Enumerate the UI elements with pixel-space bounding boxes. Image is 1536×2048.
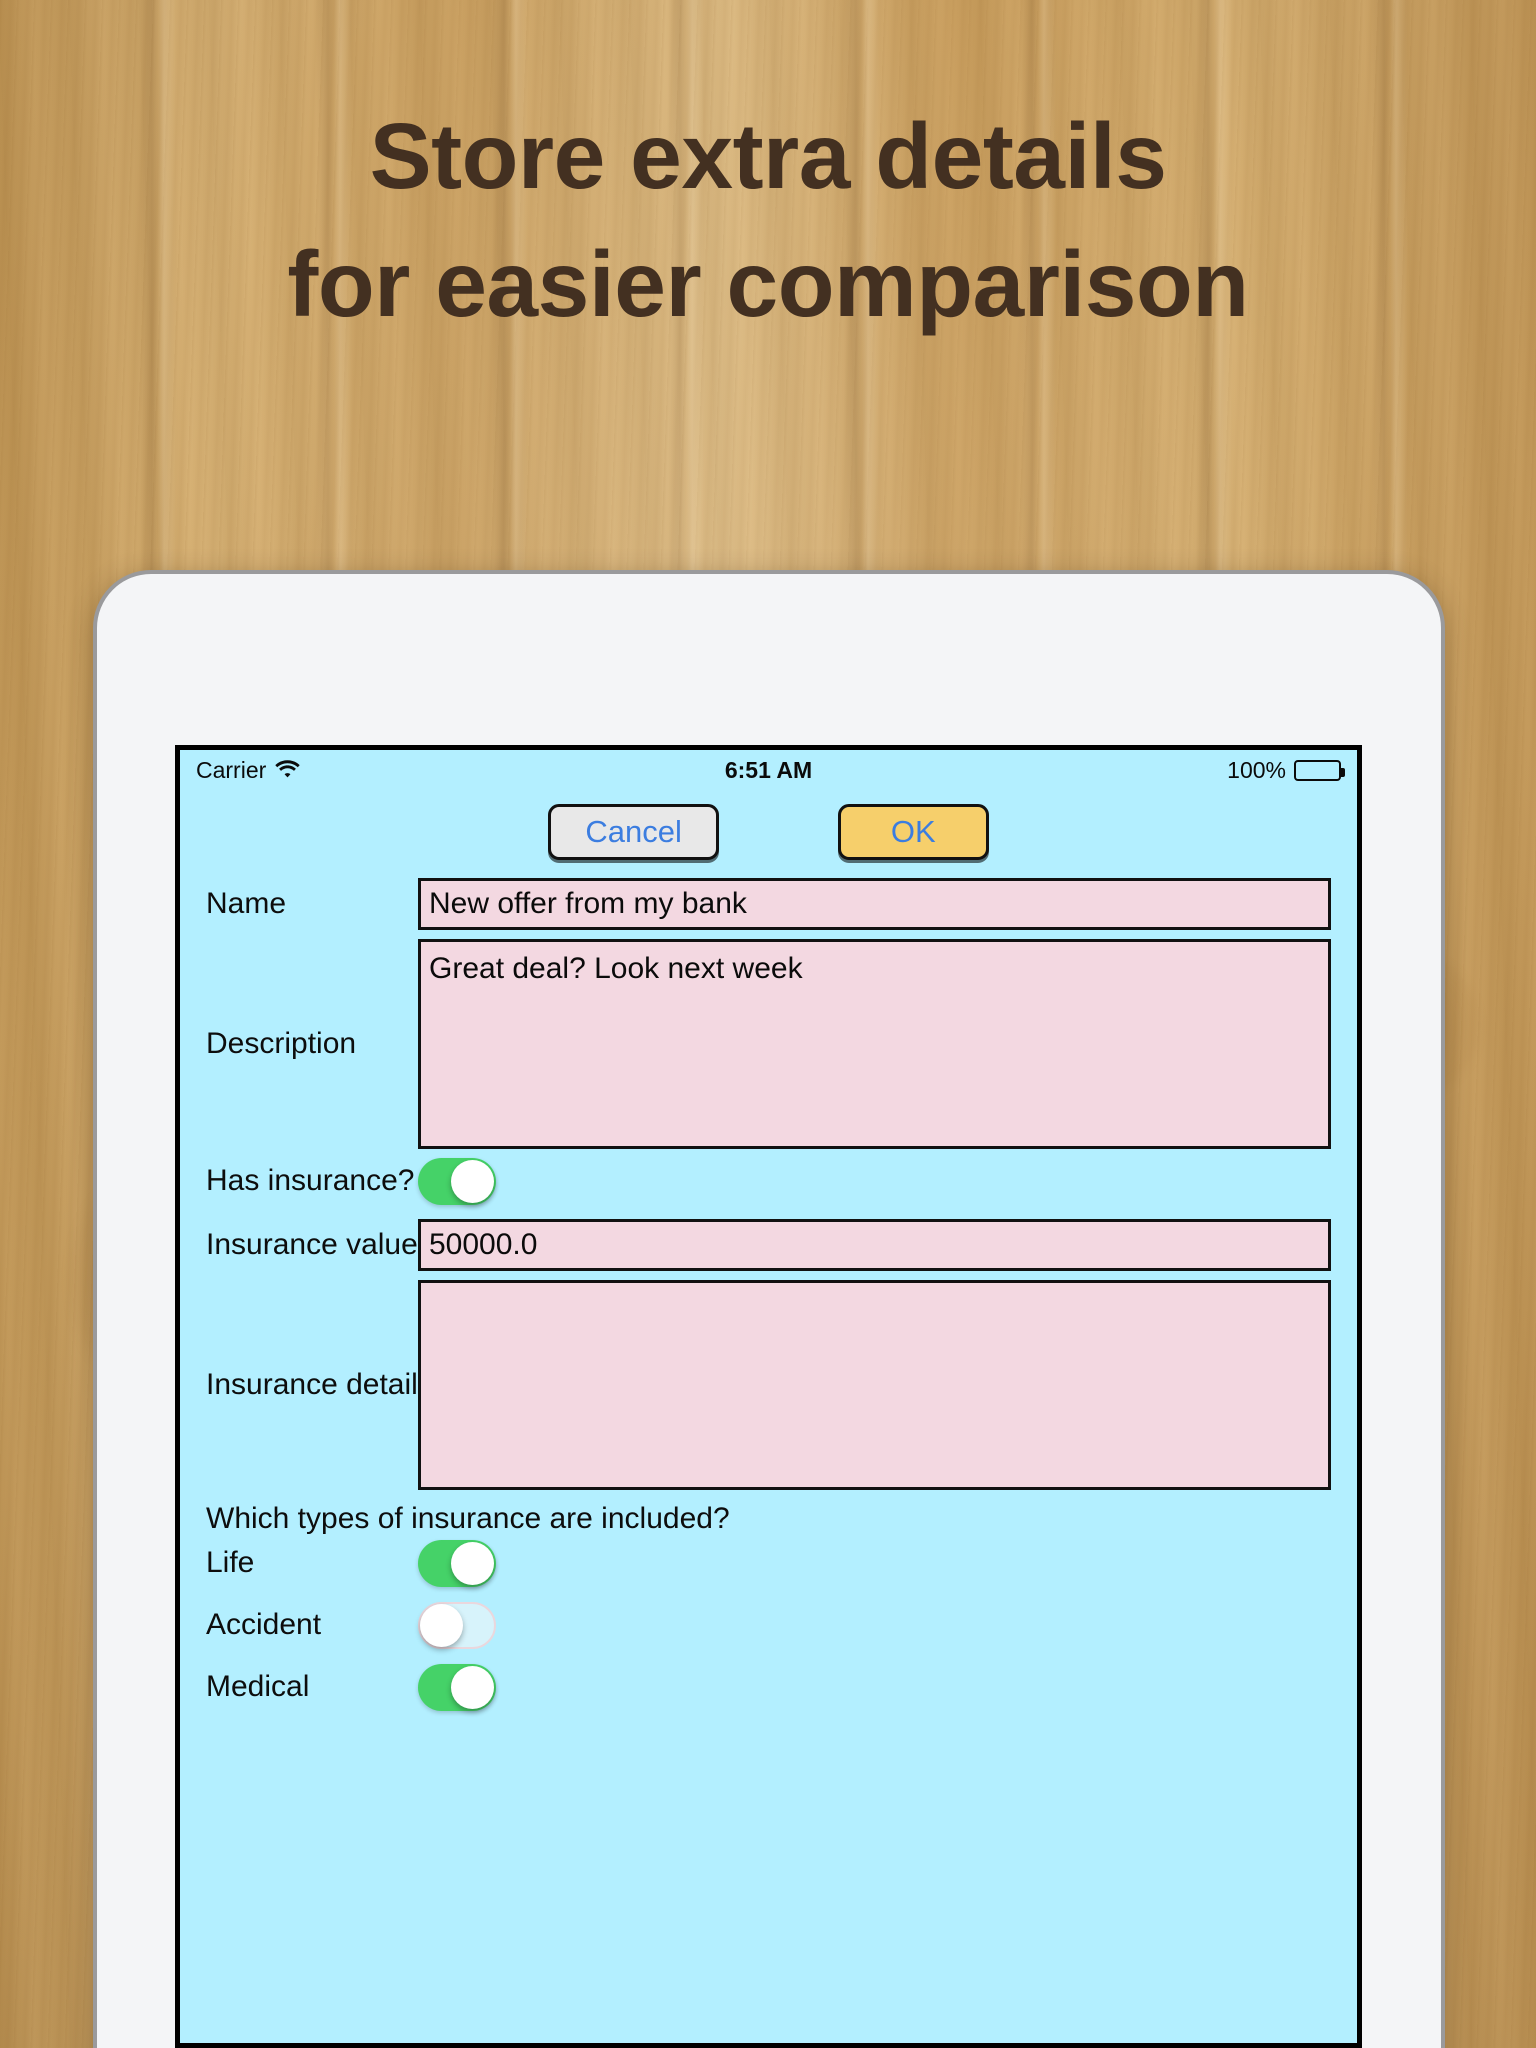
form-row-accident: Accident bbox=[206, 1602, 1331, 1649]
name-input[interactable]: New offer from my bank bbox=[418, 878, 1331, 930]
name-label: Name bbox=[206, 886, 418, 922]
carrier-label: Carrier bbox=[196, 757, 266, 784]
description-label: Description bbox=[206, 1026, 418, 1062]
ok-button[interactable]: OK bbox=[838, 804, 989, 860]
insurance-types-group: Life Accident Medical bbox=[206, 1540, 1331, 1711]
status-bar: Carrier 6:51 AM 100% bbox=[180, 750, 1357, 790]
promo-headline: Store extra details for easier compariso… bbox=[0, 92, 1536, 349]
form-row-insurance-detail: Insurance detail bbox=[206, 1280, 1331, 1490]
insurance-value-label: Insurance value bbox=[206, 1227, 418, 1263]
accident-label: Accident bbox=[206, 1607, 418, 1643]
dialog-toolbar: Cancel OK bbox=[180, 790, 1357, 874]
status-bar-right: 100% bbox=[1227, 757, 1341, 784]
accident-toggle[interactable] bbox=[418, 1602, 496, 1649]
form-row-insurance-value: Insurance value 50000.0 bbox=[206, 1219, 1331, 1271]
battery-percent-label: 100% bbox=[1227, 757, 1286, 784]
form-row-life: Life bbox=[206, 1540, 1331, 1587]
medical-toggle[interactable] bbox=[418, 1664, 496, 1711]
form-row-name: Name New offer from my bank bbox=[206, 878, 1331, 930]
app-screen: Carrier 6:51 AM 100% Cancel OK Name bbox=[175, 745, 1362, 2048]
medical-label: Medical bbox=[206, 1669, 418, 1705]
form-row-has-insurance: Has insurance? bbox=[206, 1158, 1331, 1205]
offer-form: Name New offer from my bank Description … bbox=[180, 874, 1357, 1711]
toggle-knob bbox=[420, 1604, 463, 1647]
has-insurance-toggle[interactable] bbox=[418, 1158, 496, 1205]
insurance-detail-input[interactable] bbox=[418, 1280, 1331, 1490]
has-insurance-label: Has insurance? bbox=[206, 1163, 418, 1199]
cancel-button[interactable]: Cancel bbox=[548, 804, 719, 860]
status-bar-time: 6:51 AM bbox=[180, 757, 1357, 784]
status-bar-left: Carrier bbox=[196, 757, 300, 784]
form-row-description: Description Great deal? Look next week bbox=[206, 939, 1331, 1149]
insurance-detail-label: Insurance detail bbox=[206, 1367, 418, 1403]
insurance-types-question: Which types of insurance are included? bbox=[206, 1502, 1331, 1536]
description-input[interactable]: Great deal? Look next week bbox=[418, 939, 1331, 1149]
form-row-medical: Medical bbox=[206, 1664, 1331, 1711]
wifi-icon bbox=[275, 757, 300, 784]
life-label: Life bbox=[206, 1545, 418, 1581]
life-toggle[interactable] bbox=[418, 1540, 496, 1587]
insurance-value-input[interactable]: 50000.0 bbox=[418, 1219, 1331, 1271]
toggle-knob bbox=[451, 1666, 494, 1709]
headline-line-2: for easier comparison bbox=[46, 220, 1490, 348]
battery-full-icon bbox=[1294, 760, 1341, 781]
toggle-knob bbox=[451, 1160, 494, 1203]
headline-line-1: Store extra details bbox=[46, 92, 1490, 220]
toggle-knob bbox=[451, 1542, 494, 1585]
